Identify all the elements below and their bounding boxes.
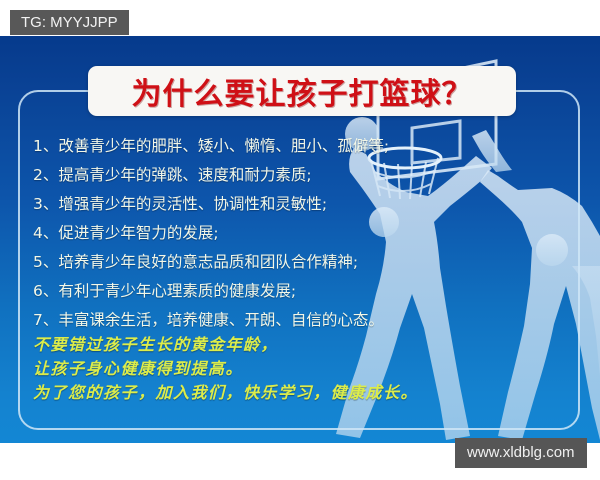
benefit-list: 1、改善青少年的肥胖、矮小、懒惰、胆小、孤僻等; 2、提高青少年的弹跳、速度和耐…: [33, 132, 463, 335]
list-item: 6、有利于青少年心理素质的健康发展;: [33, 277, 463, 306]
list-item: 2、提高青少年的弹跳、速度和耐力素质;: [33, 161, 463, 190]
slogan-line: 为了您的孩子，加入我们，快乐学习，健康成长。: [33, 381, 493, 405]
title-banner: 为什么要让孩子打篮球？: [88, 66, 516, 116]
slogan-line: 不要错过孩子生长的黄金年龄，: [33, 333, 493, 357]
slogan-line: 让孩子身心健康得到提高。: [33, 357, 493, 381]
list-item: 3、增强青少年的灵活性、协调性和灵敏性;: [33, 190, 463, 219]
page-title: 为什么要让孩子打篮球？: [132, 69, 473, 113]
list-item: 5、培养青少年良好的意志品质和团队合作精神;: [33, 248, 463, 277]
watermark-badge: www.xldblg.com: [455, 438, 587, 468]
slogan-block: 不要错过孩子生长的黄金年龄， 让孩子身心健康得到提高。 为了您的孩子，加入我们，…: [33, 333, 493, 405]
poster-panel: 为什么要让孩子打篮球？ 1、改善青少年的肥胖、矮小、懒惰、胆小、孤僻等; 2、提…: [0, 36, 600, 443]
tg-tag-badge: TG: MYYJJPP: [10, 10, 129, 35]
list-item: 4、促进青少年智力的发展;: [33, 219, 463, 248]
list-item: 7、丰富课余生活，培养健康、开朗、自信的心态。: [33, 306, 463, 335]
list-item: 1、改善青少年的肥胖、矮小、懒惰、胆小、孤僻等;: [33, 132, 463, 161]
poster-image: 为什么要让孩子打篮球？ 1、改善青少年的肥胖、矮小、懒惰、胆小、孤僻等; 2、提…: [0, 0, 600, 480]
